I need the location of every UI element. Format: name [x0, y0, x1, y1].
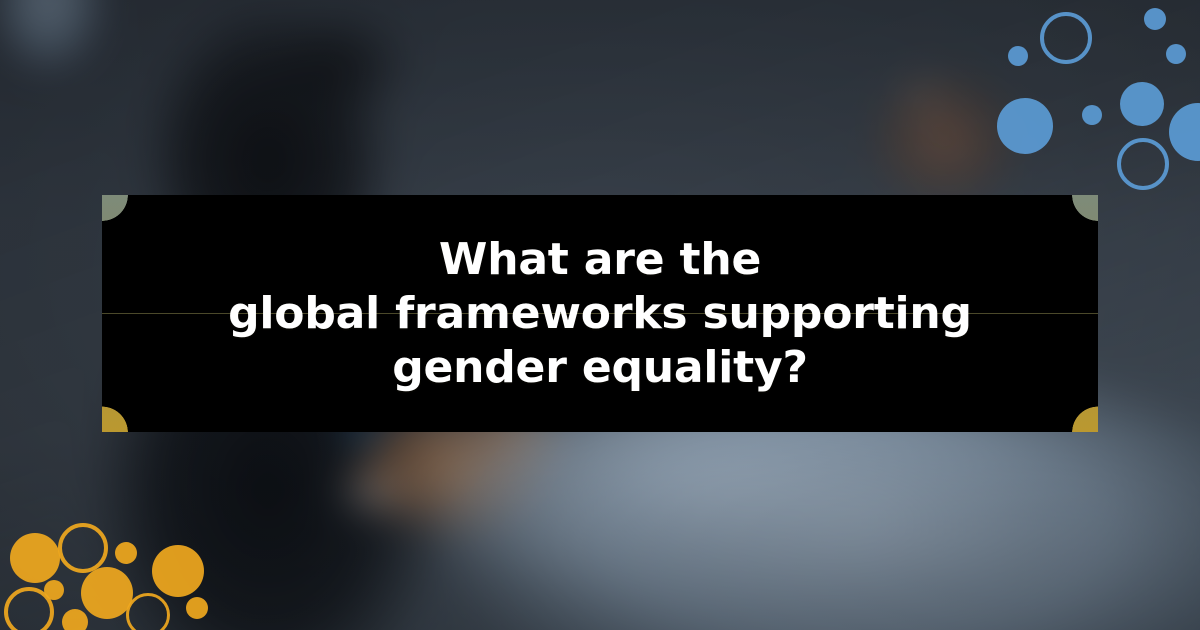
blue-filled-dot [1120, 82, 1164, 126]
question-card-inner: What are the global frameworks supportin… [102, 233, 1098, 395]
amber-filled-dot [10, 533, 60, 583]
amber-ring-dot [58, 523, 108, 573]
blue-filled-dot [997, 98, 1053, 154]
amber-filled-dot [152, 545, 204, 597]
blue-ring-dot [1040, 12, 1092, 64]
blue-filled-dot [1082, 105, 1102, 125]
amber-filled-dot [115, 542, 137, 564]
amber-filled-dot [62, 609, 88, 630]
amber-ring-dot [126, 593, 170, 630]
question-title: What are the global frameworks supportin… [128, 233, 1072, 395]
blue-filled-dot [1144, 8, 1166, 30]
question-card: What are the global frameworks supportin… [102, 195, 1098, 432]
blue-filled-dot [1008, 46, 1028, 66]
blue-filled-dot [1166, 44, 1186, 64]
decorative-dots-top-right [970, 0, 1200, 130]
screenshot-canvas: What are the global frameworks supportin… [0, 0, 1200, 630]
amber-filled-dot [186, 597, 208, 619]
decorative-dots-bottom-left [0, 505, 235, 630]
amber-ring-dot [4, 587, 54, 630]
blue-ring-dot [1117, 138, 1169, 190]
